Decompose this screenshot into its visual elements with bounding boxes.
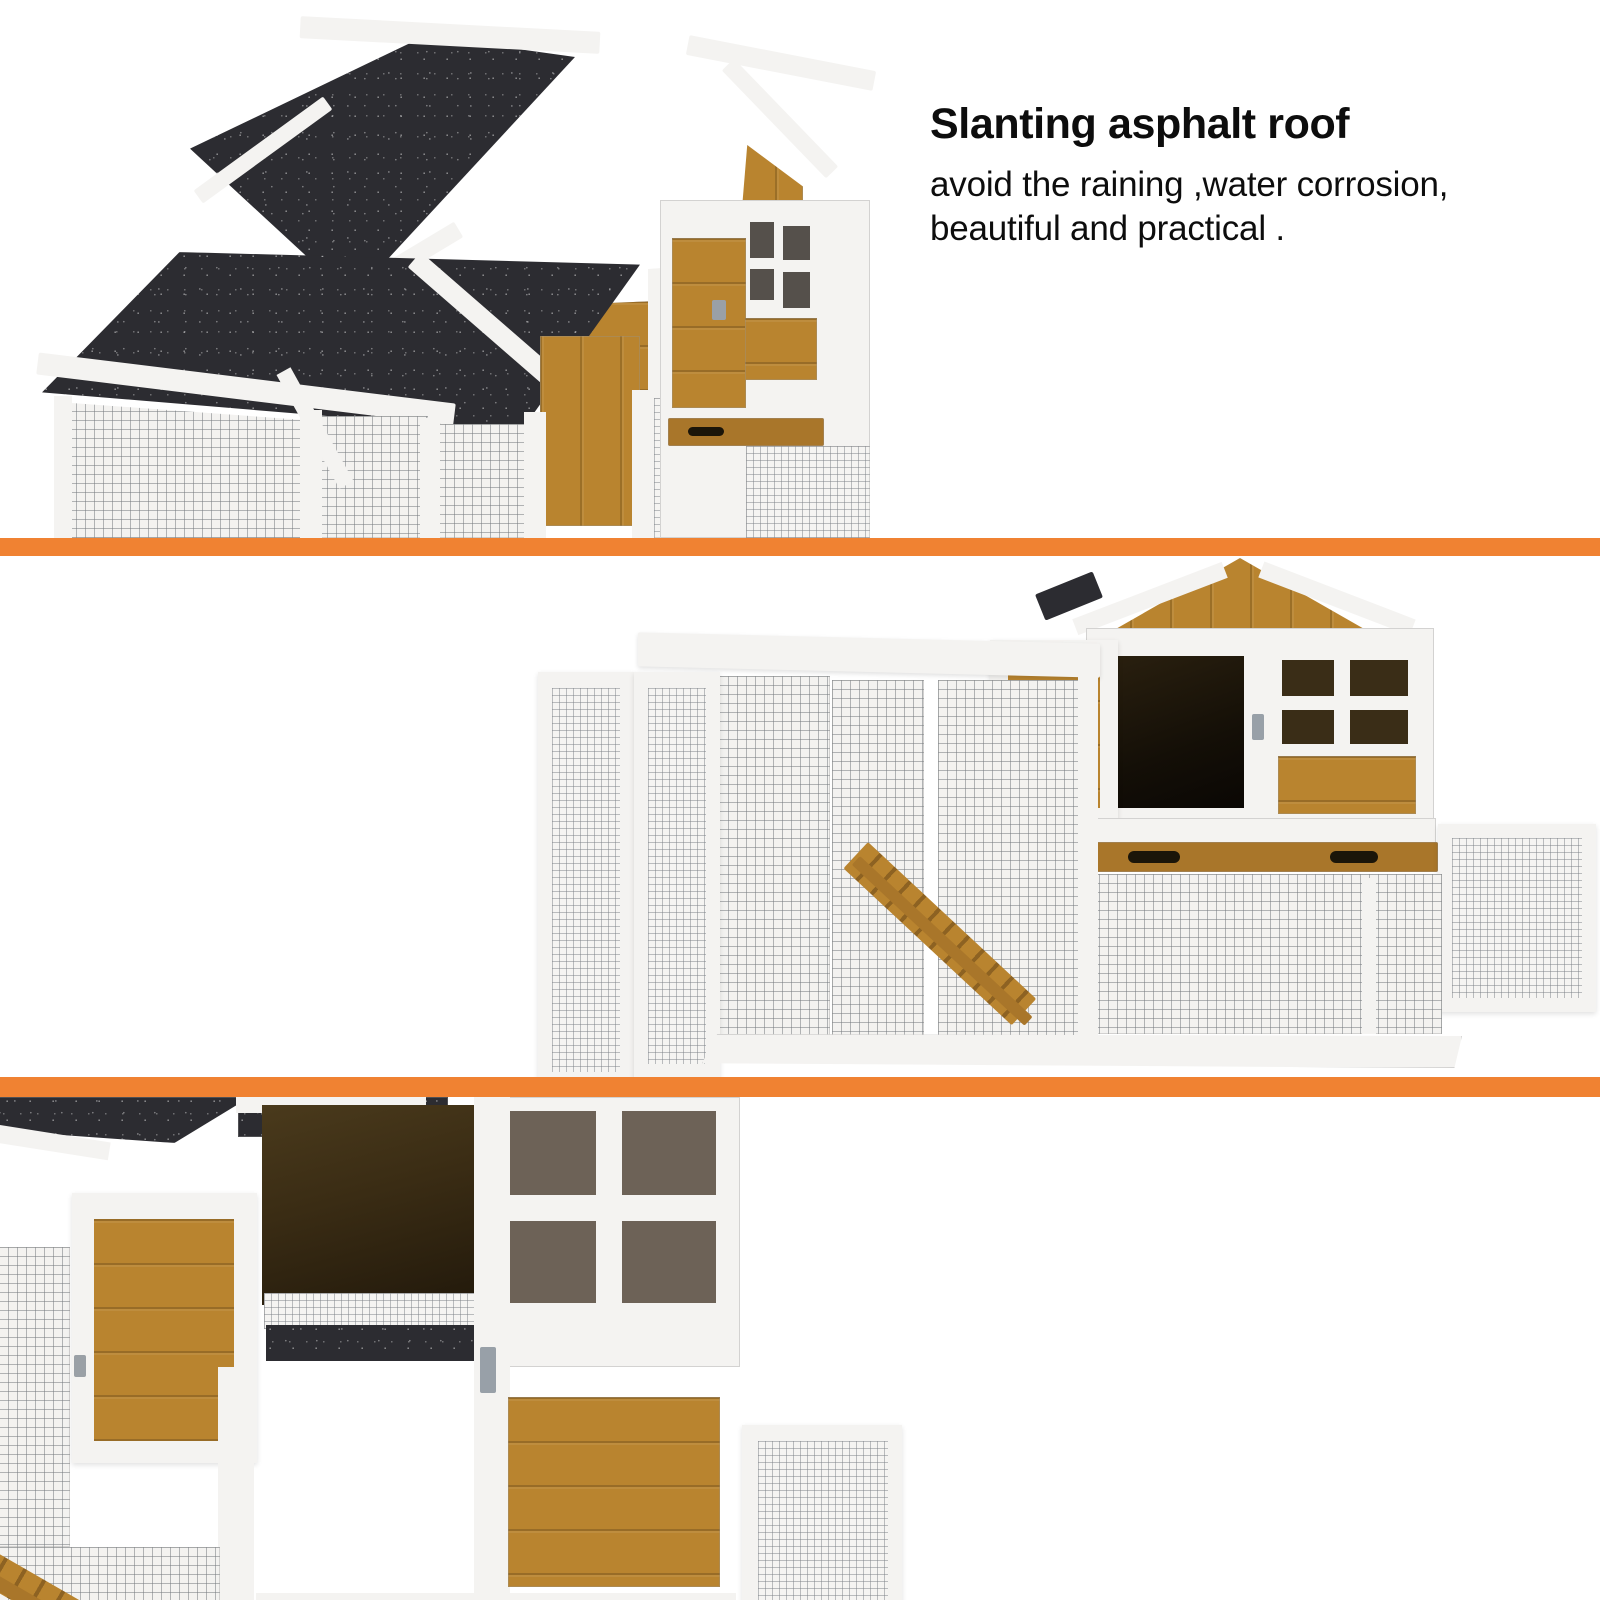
- feature-body-1: avoid the raining ,water corrosion, beau…: [930, 163, 1448, 251]
- door-latch-icon: [712, 300, 726, 320]
- roof-right-eave: [686, 35, 876, 91]
- product-image-3-lower: [0, 1347, 960, 1600]
- drawer-handle-icon-left: [1128, 851, 1180, 863]
- feature-panel-3: Double-deck pullzinc drawer blowout prev…: [0, 1097, 1600, 1600]
- lower-run-door-post: [1362, 878, 1376, 1034]
- leg-post-center: [218, 1367, 254, 1600]
- product-image-1: [0, 0, 900, 538]
- upper-window-mullion-h: [1276, 696, 1414, 710]
- upper-window-pane-1: [1282, 660, 1334, 696]
- front-lower-wood-panel-b: [508, 1397, 720, 1587]
- run-left-mesh-panel: [58, 402, 318, 538]
- lower-open-mesh-door-insert: [758, 1441, 888, 1600]
- upper-window-pane-2: [1350, 660, 1408, 696]
- front-window-pane-4: [620, 1219, 716, 1303]
- run-post-left: [54, 396, 72, 538]
- section-divider-2: [0, 1077, 1600, 1097]
- feature-text-1: Slanting asphalt roof avoid the raining …: [930, 100, 1448, 251]
- upper-window-pane-4: [1350, 708, 1408, 744]
- lower-run-mesh-right: [1090, 874, 1442, 1034]
- upper-window-pane-3: [1282, 708, 1334, 744]
- interior-floor-mesh: [264, 1293, 484, 1329]
- front-window-mullion-h: [498, 1195, 724, 1221]
- window-pane-1: [750, 222, 774, 258]
- front-window-pane-3: [506, 1219, 596, 1303]
- run-rear-wood-wall: [540, 336, 640, 526]
- front-window-pane-2: [620, 1111, 716, 1197]
- house-lower-wood-panel: [745, 318, 817, 380]
- house-right-lower-mesh: [746, 446, 870, 538]
- run-post-b: [420, 418, 440, 538]
- run-open-mesh-door-right-insert: [1452, 838, 1582, 998]
- infographic-page: Slanting asphalt roof avoid the raining …: [0, 0, 1600, 1600]
- run-post-d: [632, 390, 654, 538]
- drawer-handle-icon-right: [1330, 851, 1378, 863]
- feature-heading-1: Slanting asphalt roof: [930, 100, 1448, 149]
- window-pane-2: [782, 226, 810, 264]
- run-open-mesh-door-left-insert: [552, 688, 620, 1072]
- run-open-mesh-door-left-inner-insert: [648, 688, 706, 1064]
- mid-shelf-board: [1086, 818, 1436, 844]
- section-divider-1: [0, 538, 1600, 556]
- hutch-interior-opening: [262, 1105, 480, 1305]
- feature-panel-2: Upper and lower space live more comforta…: [0, 556, 1600, 1077]
- product-image-2: [530, 556, 1600, 1077]
- upper-open-doorway-interior: [1106, 656, 1244, 808]
- run-center-post: [1078, 676, 1098, 1056]
- window-pane-3: [750, 266, 774, 300]
- house-front-door: [672, 238, 746, 408]
- window-mullion-h: [744, 260, 816, 269]
- run-mid-mesh-panel: [436, 424, 532, 538]
- upper-door-latch-icon: [1252, 714, 1264, 740]
- window-pane-4: [782, 272, 810, 308]
- drawer-handle-icon: [688, 427, 724, 436]
- upper-right-wood-panel: [1278, 756, 1416, 814]
- tray-shelf-rail: [256, 1593, 736, 1600]
- run-mesh-back-left: [710, 676, 830, 1056]
- front-window-pane-1: [506, 1111, 596, 1197]
- run-post-c: [524, 412, 546, 538]
- feature-panel-1: Slanting asphalt roof avoid the raining …: [0, 0, 1600, 538]
